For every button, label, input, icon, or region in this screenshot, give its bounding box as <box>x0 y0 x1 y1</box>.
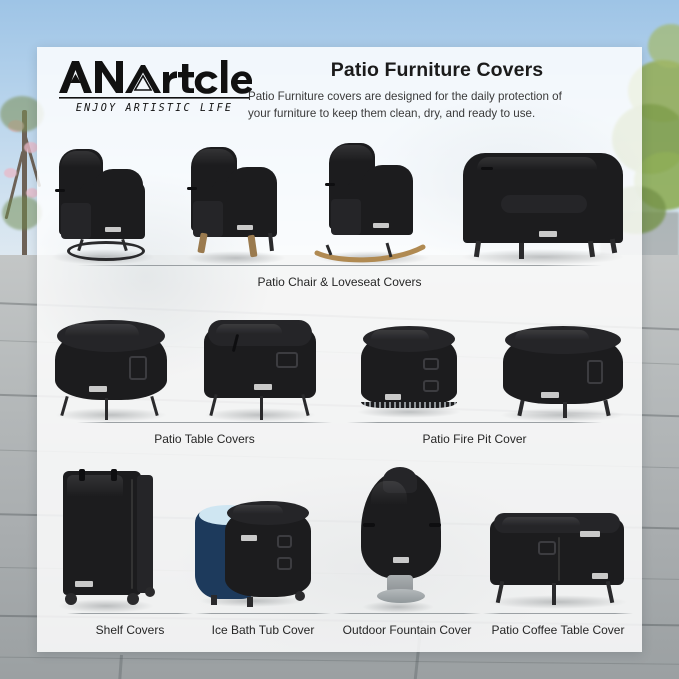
cover-art <box>341 465 461 611</box>
cover-handle <box>423 380 439 392</box>
brand-tagline: ENJOY ARTISTIC LIFE <box>61 102 248 114</box>
product-round-table-cover[interactable] <box>41 302 181 420</box>
caption-label: Shelf Covers <box>67 623 193 637</box>
loveseat-leg <box>519 243 524 259</box>
cover-handle <box>129 356 147 380</box>
row-chairs-captions: Patio Chair & Loveseat Covers <box>37 265 642 301</box>
caption-group: Patio Chair & Loveseat Covers <box>77 265 602 289</box>
content-card: ENJOY ARTISTIC LIFE Patio Furniture Cove… <box>37 47 642 652</box>
caption-label: Patio Chair & Loveseat Covers <box>77 275 602 289</box>
cover-brand-tag <box>237 225 253 230</box>
product-ice-bath-tub-cover[interactable] <box>181 459 326 611</box>
cover-side-panel <box>137 475 153 593</box>
cover-highlight <box>331 145 373 175</box>
caption-rule <box>347 422 602 423</box>
cover-brand-tag <box>385 394 401 400</box>
row-specialty-items <box>37 459 642 611</box>
cover-handle <box>538 541 556 555</box>
caption-rule <box>483 613 633 614</box>
blossom-cluster <box>24 142 38 153</box>
cover-hem-band <box>361 402 457 408</box>
cover-highlight <box>67 475 123 515</box>
caption-rule <box>77 265 602 266</box>
cover-handle <box>587 360 603 384</box>
cover-armrest <box>225 167 277 203</box>
product-round-fire-pit-cover-tall[interactable] <box>339 302 479 420</box>
caption-label: Patio Table Covers <box>77 432 332 446</box>
fire-pit-leg <box>603 400 610 416</box>
cover-highlight <box>502 517 580 533</box>
shelf-caster <box>127 593 139 605</box>
cover-highlight <box>216 324 282 342</box>
cover-highlight <box>233 505 283 521</box>
header-text-block: Patio Furniture Covers Patio Furniture c… <box>242 59 632 122</box>
logo-wordmark-icon <box>57 57 252 101</box>
loveseat-leg <box>474 241 481 258</box>
cover-brand-tag <box>373 223 389 228</box>
fire-pit-leg <box>563 402 567 418</box>
caption-rule <box>195 613 331 614</box>
rocker-runner-icon <box>313 231 433 263</box>
table-leg <box>151 396 159 416</box>
fountain-base <box>377 589 425 603</box>
caption-label: Patio Coffee Table Cover <box>483 623 633 637</box>
cover-art <box>495 318 631 420</box>
brand-logo: ENJOY ARTISTIC LIFE <box>57 57 252 114</box>
cover-highlight <box>193 149 235 179</box>
caption-label: Ice Bath Tub Cover <box>195 623 331 637</box>
cover-seat-crease <box>501 195 587 213</box>
cover-arm-right <box>585 177 623 243</box>
product-club-chair-cover-swivel[interactable] <box>43 131 163 263</box>
cover-brand-tag <box>541 392 559 398</box>
caption-label: Outdoor Fountain Cover <box>333 623 481 637</box>
row-chairs-items <box>37 131 642 263</box>
tub-foot <box>211 595 217 605</box>
chair-leg-wood <box>247 235 257 258</box>
product-loveseat-cover[interactable] <box>451 131 636 263</box>
table-leg <box>105 398 108 420</box>
cover-brand-tag <box>592 573 608 579</box>
cover-handle <box>276 352 298 368</box>
caption-group: Patio Table Covers <box>77 422 332 446</box>
cover-art <box>47 312 175 420</box>
cover-strap-loop <box>481 167 493 170</box>
cover-brand-tag <box>241 535 257 541</box>
cover-side-panel <box>61 203 91 239</box>
cover-highlight <box>371 330 429 348</box>
cover-art <box>482 501 634 611</box>
row-specialty-captions: Shelf Covers Ice Bath Tub Cover Outdoor … <box>37 613 642 647</box>
caption-group: Patio Fire Pit Cover <box>347 422 602 446</box>
cover-highlight <box>515 330 589 348</box>
cover-handle <box>423 358 439 370</box>
cover-brand-tag <box>75 581 93 587</box>
cover-art <box>313 139 433 263</box>
cover-art <box>457 149 629 263</box>
cover-brand-tag <box>105 227 121 232</box>
cover-zipper-seam <box>131 479 133 589</box>
cover-brand-tag <box>254 384 272 390</box>
cover-art <box>183 141 289 263</box>
cover-art <box>347 320 471 420</box>
table-leg <box>61 396 69 416</box>
caption-group: Ice Bath Tub Cover <box>195 613 331 637</box>
tub-foot <box>247 597 253 607</box>
row-tables-firepit-captions: Patio Table Covers Patio Fire Pit Cover <box>37 422 642 458</box>
loveseat-leg <box>588 241 595 258</box>
cover-highlight <box>477 157 597 181</box>
caption-group: Shelf Covers <box>67 613 193 637</box>
cover-armrest <box>361 165 413 201</box>
cover-side-panel <box>193 201 223 237</box>
cover-highlight <box>371 481 407 525</box>
page-description: Patio Furniture covers are designed for … <box>242 89 632 122</box>
fire-pit-leg <box>517 400 524 416</box>
cover-strap-loop <box>187 187 197 190</box>
cover-strap-loop <box>55 189 65 192</box>
caption-group: Outdoor Fountain Cover <box>333 613 481 637</box>
cover-top-strap <box>111 469 117 481</box>
cover-art <box>49 141 157 263</box>
cover-seam <box>558 537 560 581</box>
row-chairs: Patio Chair & Loveseat Covers <box>37 131 642 301</box>
cover-top-strap <box>79 469 85 481</box>
product-club-chair-cover-legs[interactable] <box>176 131 296 263</box>
caption-label: Patio Fire Pit Cover <box>347 432 602 446</box>
tub-caster <box>295 591 305 601</box>
row-tables-firepit: Patio Table Covers Patio Fire Pit Cover <box>37 302 642 457</box>
shelf-caster <box>65 593 77 605</box>
card-header: ENJOY ARTISTIC LIFE Patio Furniture Cove… <box>37 47 642 129</box>
product-outdoor-fountain-cover[interactable] <box>328 459 473 611</box>
row-specialty: Shelf Covers Ice Bath Tub Cover Outdoor … <box>37 459 642 652</box>
table-leg <box>260 396 263 420</box>
caption-group: Patio Coffee Table Cover <box>483 613 633 637</box>
shelf-caster <box>145 587 155 597</box>
row-tables-firepit-items <box>37 302 642 420</box>
cover-art <box>53 465 163 611</box>
product-round-fire-pit-cover-wide[interactable] <box>488 302 638 420</box>
cover-armrest <box>93 169 143 205</box>
cover-brand-tag <box>89 386 107 392</box>
caption-rule <box>67 613 193 614</box>
cover-handle <box>277 557 292 570</box>
cover-highlight <box>61 151 101 181</box>
product-shelf-cover[interactable] <box>38 459 178 611</box>
cover-highlight <box>65 324 139 346</box>
table-leg <box>552 583 556 605</box>
blossom-cluster <box>4 168 17 178</box>
cover-brand-tag <box>580 531 600 537</box>
caption-rule <box>77 422 332 423</box>
cover-arm-left <box>463 177 501 243</box>
product-rocking-chair-cover[interactable] <box>308 131 438 263</box>
page-description-line2: your furniture to keep them clean, dry, … <box>248 106 632 123</box>
infographic-stage: ENJOY ARTISTIC LIFE Patio Furniture Cove… <box>0 0 679 679</box>
cover-handle <box>277 535 292 548</box>
cover-brand-tag <box>393 557 409 563</box>
cover-strap-loop <box>325 183 335 186</box>
cover-cinch-strap <box>363 523 375 527</box>
cover-art <box>191 491 315 611</box>
cover-brand-tag <box>539 231 557 237</box>
cover-side-panel <box>331 199 361 235</box>
product-patio-coffee-table-cover[interactable] <box>476 459 641 611</box>
page-description-line1: Patio Furniture covers are designed for … <box>248 89 632 106</box>
cover-art <box>196 312 324 420</box>
foliage-left <box>2 196 42 230</box>
page-title: Patio Furniture Covers <box>242 59 632 82</box>
product-square-table-cover[interactable] <box>190 302 330 420</box>
caption-rule <box>333 613 481 614</box>
cover-cinch-strap <box>429 523 441 527</box>
